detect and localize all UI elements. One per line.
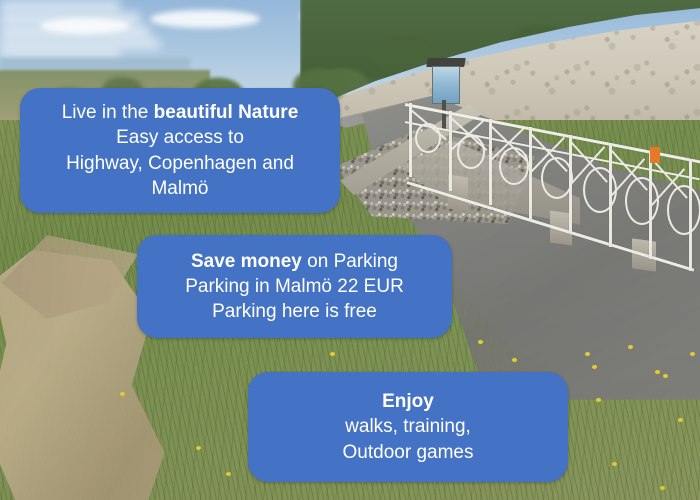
railing-oval-ornament xyxy=(415,123,441,153)
parking-callout: Save money on ParkingParking in Malmö 22… xyxy=(137,235,452,338)
dandelion-icon xyxy=(512,358,517,362)
cloud-icon xyxy=(0,49,120,58)
callout-text: walks, training, xyxy=(345,416,471,437)
dandelion-icon xyxy=(226,472,231,476)
railing-post xyxy=(489,119,492,205)
dandelion-icon xyxy=(592,365,597,369)
dandelion-icon xyxy=(478,340,483,344)
enjoy-callout: Enjoywalks, training,Outdoor games xyxy=(248,372,568,482)
screenshot-canvas: Live in the beautiful NatureEasy access … xyxy=(0,0,700,500)
callout-line: Live in the beautiful Nature xyxy=(62,100,299,125)
cloud-icon xyxy=(0,39,160,49)
callout-emphasis: beautiful Nature xyxy=(154,102,299,123)
callout-line: Outdoor games xyxy=(343,440,474,465)
cloud-icon xyxy=(0,0,120,12)
railing-post xyxy=(529,127,532,219)
cloud-icon xyxy=(150,10,260,28)
callout-line: Parking here is free xyxy=(212,299,377,324)
callout-text: Malmö xyxy=(151,178,208,199)
dandelion-icon xyxy=(660,486,665,490)
callout-line: Parking in Malmö 22 EUR xyxy=(185,274,404,299)
dandelion-icon xyxy=(196,446,201,450)
dandelion-icon xyxy=(690,352,695,356)
callout-line: Malmö xyxy=(151,176,208,201)
callout-text: Parking here is free xyxy=(212,301,377,322)
dandelion-icon xyxy=(628,345,633,349)
railing-oval-ornament xyxy=(499,147,529,185)
dandelion-icon xyxy=(585,352,590,356)
nature-callout: Live in the beautiful NatureEasy access … xyxy=(20,88,340,213)
callout-text: Live in the xyxy=(62,102,154,123)
callout-line: Easy access to xyxy=(116,125,244,150)
callout-emphasis: Enjoy xyxy=(382,391,434,412)
callout-line: Highway, Copenhagen and xyxy=(66,151,294,176)
callout-emphasis: Save money xyxy=(191,251,302,272)
cloud-icon xyxy=(0,12,140,26)
callout-line: Save money on Parking xyxy=(191,249,398,274)
callout-text: Easy access to xyxy=(116,127,244,148)
dandelion-icon xyxy=(330,352,335,356)
dandelion-icon xyxy=(655,370,660,374)
dandelion-icon xyxy=(678,418,683,422)
callout-text: Highway, Copenhagen and xyxy=(66,153,294,174)
dandelion-icon xyxy=(596,398,601,402)
dandelion-icon xyxy=(120,392,125,396)
dandelion-icon xyxy=(663,374,668,378)
railing-post xyxy=(409,103,412,177)
orange-marker-icon xyxy=(650,147,660,163)
callout-line: Enjoy xyxy=(382,389,434,414)
callout-text: on Parking xyxy=(302,251,398,272)
cloud-icon xyxy=(0,26,150,39)
callout-line: walks, training, xyxy=(345,414,471,439)
white-decorative-railing xyxy=(405,85,700,260)
callout-text: Parking in Malmö 22 EUR xyxy=(185,276,404,297)
callout-text: Outdoor games xyxy=(343,442,474,463)
railing-post xyxy=(449,111,452,191)
dandelion-icon xyxy=(612,462,617,466)
